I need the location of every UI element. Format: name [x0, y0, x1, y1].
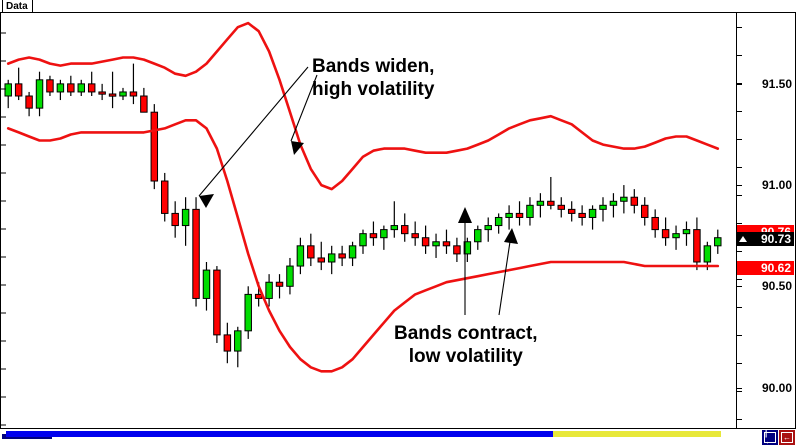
price-axis[interactable]: INDEX 91.5091.0090.5090.0090.7690.7390.6… — [737, 12, 796, 429]
candle-body — [151, 112, 157, 181]
candle-body — [224, 335, 230, 351]
candle-body — [402, 226, 408, 234]
price-axis-tick — [737, 286, 742, 287]
price-label: 90.00 — [762, 382, 792, 394]
candle-body — [182, 209, 188, 225]
candle-body — [422, 238, 428, 246]
candle-body — [297, 246, 303, 266]
candle-body — [57, 84, 63, 92]
price-axis-minor-tick — [737, 251, 742, 252]
candle-body — [412, 234, 418, 238]
candle-body — [485, 226, 491, 230]
candle-body — [568, 209, 574, 213]
candle-body — [683, 230, 689, 234]
price-axis-minor-tick — [737, 83, 742, 84]
candle-body — [47, 80, 53, 92]
price-axis-minor-tick — [737, 195, 742, 196]
candle-body — [130, 92, 136, 96]
candle-body — [266, 282, 272, 298]
candle-body — [548, 201, 554, 205]
price-axis-minor-tick — [737, 335, 742, 336]
price-axis-minor-tick — [737, 363, 742, 364]
candle-body — [5, 84, 11, 96]
annotation-bands-widen: Bands widen,high volatility — [312, 55, 434, 101]
candle-body — [245, 294, 251, 330]
candle-body — [516, 213, 522, 217]
nav-back-button[interactable]: ← — [779, 430, 795, 445]
price-axis-minor-tick — [737, 279, 742, 280]
candle-body — [172, 213, 178, 225]
up-triangle-icon — [739, 236, 747, 242]
candle-body — [109, 94, 115, 96]
candle-body — [162, 181, 168, 213]
scrollbar-thumb[interactable] — [6, 431, 553, 437]
candle-series — [5, 64, 721, 368]
candle-body — [214, 270, 220, 335]
candle-body — [15, 84, 21, 96]
candle-body — [78, 84, 84, 92]
annotation-contract-line2: low volatility — [409, 346, 523, 367]
price-axis-minor-tick — [737, 111, 742, 112]
back-arrow-icon: ← — [781, 432, 793, 443]
candle-body — [26, 96, 32, 108]
candle-body — [193, 209, 199, 298]
first-page-icon: |← — [764, 432, 776, 443]
candle-body — [235, 331, 241, 351]
candle-body — [328, 254, 334, 262]
candle-body — [120, 92, 126, 96]
candle-body — [318, 258, 324, 262]
candle-body — [495, 217, 501, 225]
price-axis-minor-tick — [737, 419, 742, 420]
price-axis-minor-tick — [737, 139, 742, 140]
candle-body — [433, 242, 439, 246]
candle-body — [339, 254, 345, 258]
candle-body — [255, 294, 261, 298]
price-axis-tick — [737, 185, 742, 186]
price-axis-minor-tick — [737, 391, 742, 392]
annotation-widen-line1: Bands widen, — [312, 56, 434, 77]
candle-body — [443, 242, 449, 246]
candle-body — [68, 84, 74, 92]
candle-body — [704, 246, 710, 262]
candle-body — [203, 270, 209, 298]
candle-body — [662, 230, 668, 238]
chart-plot-area[interactable]: Bands widen,high volatility Bands contra… — [0, 12, 737, 429]
nav-first-button[interactable]: |← — [762, 430, 778, 445]
price-axis-minor-tick — [737, 307, 742, 308]
candle-body — [349, 246, 355, 258]
candle-body — [694, 230, 700, 262]
price-label: 90.50 — [762, 280, 792, 292]
price-axis-minor-tick — [737, 223, 742, 224]
candle-body — [652, 217, 658, 229]
candle-body — [579, 213, 585, 217]
candle-body — [631, 197, 637, 205]
price-marker-red[interactable]: 90.62 — [737, 261, 794, 275]
candle-body — [141, 96, 147, 112]
trading-chart-window: Data USDJPY.F, 15 min - FXCM US Dollar v… — [0, 0, 796, 448]
candle-body — [537, 201, 543, 205]
candle-body — [475, 230, 481, 242]
candle-body — [370, 234, 376, 238]
candle-body — [621, 197, 627, 201]
candle-body — [391, 226, 397, 230]
candle-body — [642, 205, 648, 217]
candle-body — [287, 266, 293, 286]
annotation-widen-line2: high volatility — [312, 79, 434, 100]
price-marker-black[interactable]: 90.73 — [737, 232, 794, 246]
price-axis-tick — [737, 388, 742, 389]
price-axis-minor-tick — [737, 167, 742, 168]
bollinger-upper-band — [8, 23, 718, 189]
candle-body — [600, 205, 606, 209]
price-axis-minor-tick — [737, 27, 742, 28]
candle-body — [715, 238, 721, 246]
candle-body — [454, 246, 460, 254]
candle-body — [381, 230, 387, 238]
candle-body — [99, 92, 105, 94]
annotation-bands-contract: Bands contract,low volatility — [394, 322, 538, 368]
price-label: 91.00 — [762, 179, 792, 191]
candle-body — [36, 80, 42, 108]
horizontal-scrollbar[interactable]: |← ← — [0, 429, 796, 448]
scrollbar-extent[interactable] — [553, 431, 721, 437]
candle-body — [360, 234, 366, 246]
candle-body — [506, 213, 512, 217]
candle-body — [527, 205, 533, 217]
candle-body — [276, 282, 282, 286]
price-label: 91.50 — [762, 78, 792, 90]
candle-body — [673, 234, 679, 238]
candle-body — [610, 201, 616, 205]
candle-body — [88, 84, 94, 92]
annotation-contract-line1: Bands contract, — [394, 323, 538, 344]
candle-body — [589, 209, 595, 217]
candle-body — [558, 205, 564, 209]
index-header: INDEX — [737, 12, 796, 13]
candle-body — [308, 246, 314, 258]
price-axis-minor-tick — [737, 55, 742, 56]
